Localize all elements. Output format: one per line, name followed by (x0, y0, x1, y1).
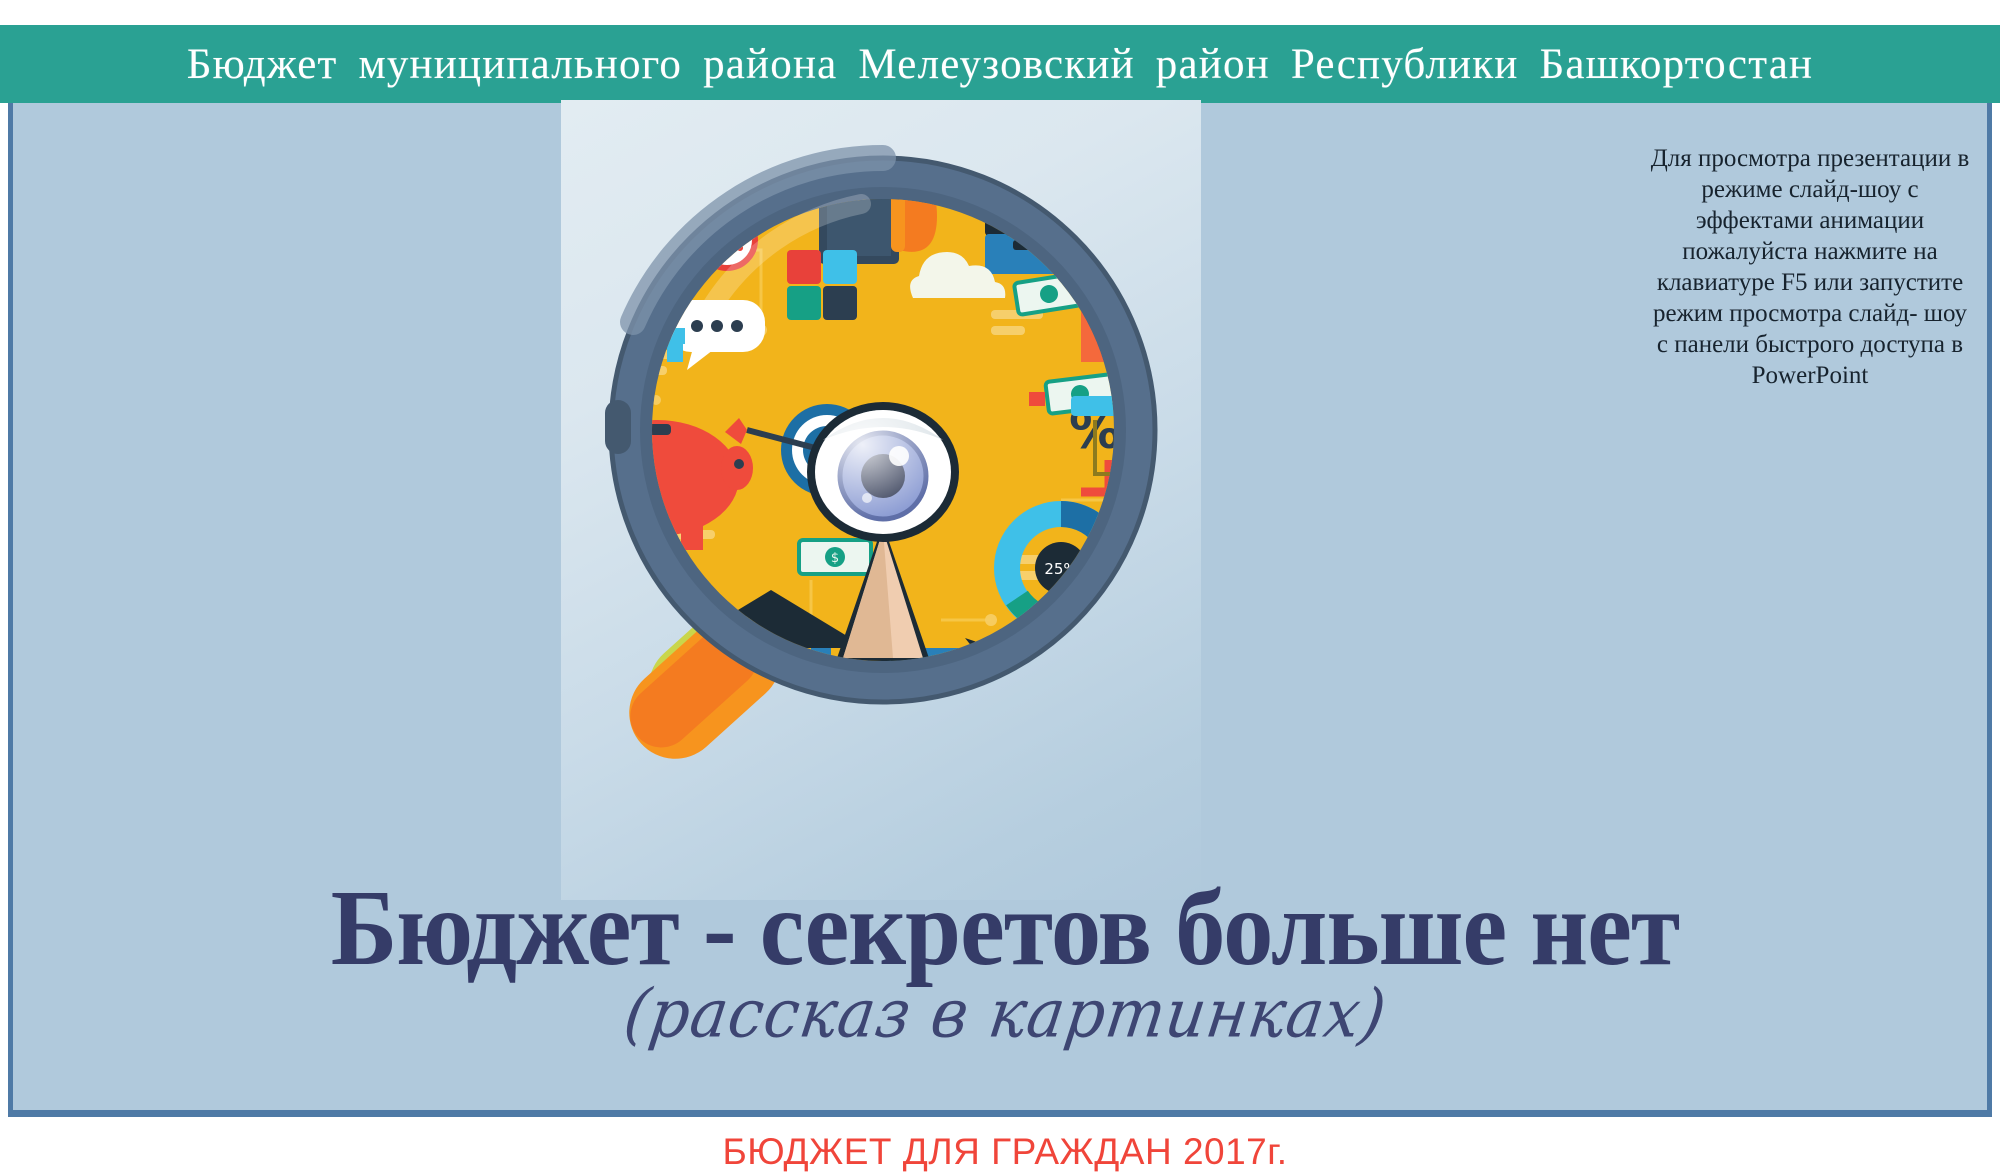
presentation-slide: Бюджет муниципального района Мелеузовски… (0, 0, 2000, 1125)
footer-text: БЮДЖЕТ ДЛЯ ГРАЖДАН 2017г. (722, 1131, 1287, 1173)
slide-content-panel: $ % (8, 103, 1992, 1117)
svg-text:$: $ (831, 551, 839, 566)
slideshow-instructions: Для просмотра презентации в режиме слайд… (1645, 143, 1975, 391)
footer-label: БЮДЖЕТ ДЛЯ ГРАЖДАН 2017г. (13, 1131, 1997, 1173)
banknote-icon: $ (799, 540, 871, 574)
slide-title-banner: Бюджет муниципального района Мелеузовски… (0, 25, 2000, 103)
headline: Бюджет - секретов больше нет (13, 875, 1997, 983)
gears-icon (1069, 648, 1187, 764)
subtitle: (рассказ в картинках) (13, 983, 1997, 1045)
magnifying-glass-illustration: $ % (561, 100, 1201, 900)
chess-pawn-icon (1137, 575, 1183, 660)
headline-text: Бюджет - секретов больше нет (331, 875, 1680, 983)
subtitle-text: (рассказ в картинках) (620, 981, 1390, 1048)
people-group-icon (915, 765, 1025, 844)
globe-icon (795, 760, 855, 820)
slide-title: Бюджет муниципального района Мелеузовски… (187, 40, 1813, 89)
